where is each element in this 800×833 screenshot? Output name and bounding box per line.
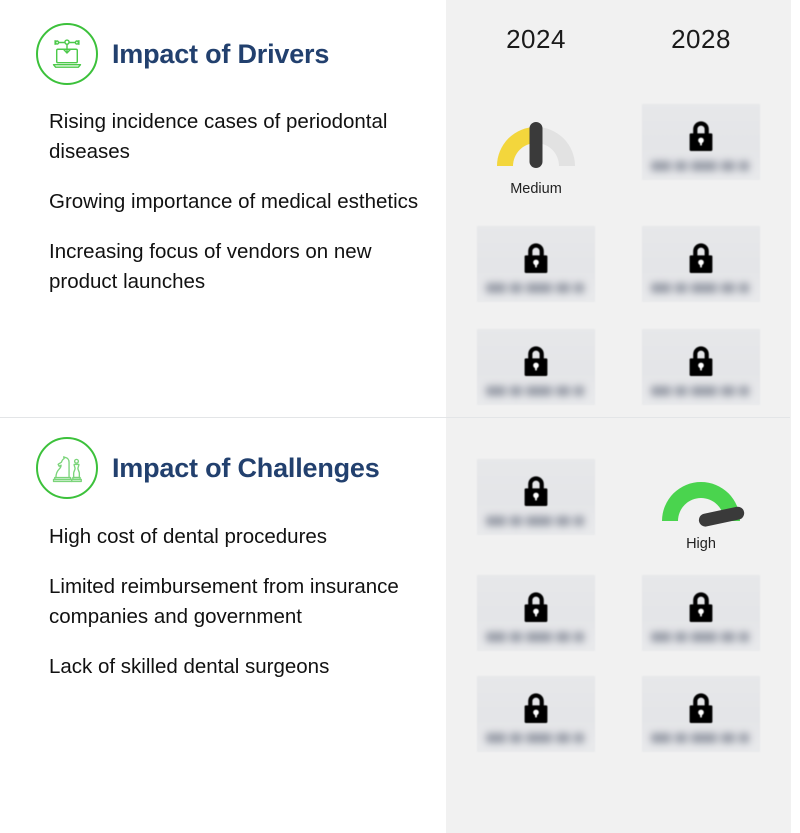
blurred-placeholder-text: [484, 630, 588, 644]
drivers-bullet-list: Rising incidence cases of periodontal di…: [49, 107, 421, 297]
impact-matrix-page: 2024 2028 Impact of Drivers Risi: [0, 0, 800, 833]
blurred-placeholder-text: [649, 731, 753, 745]
list-item: Growing importance of medical esthetics: [49, 187, 421, 217]
locked-cell-drivers-row2-2024[interactable]: [477, 226, 595, 302]
blurred-placeholder-text: [484, 281, 588, 295]
list-item: High cost of dental procedures: [49, 522, 421, 552]
challenges-section-header: Impact of Challenges: [36, 437, 380, 499]
list-item: Limited reimbursement from insurance com…: [49, 572, 421, 632]
drivers-left-column: Impact of Drivers Rising incidence cases…: [0, 0, 446, 417]
challenges-section-title: Impact of Challenges: [112, 453, 380, 484]
blurred-placeholder-text: [484, 514, 588, 528]
gauge-challenges-row1-2028: High: [642, 459, 760, 551]
locked-cell-drivers-row2-2028[interactable]: [642, 226, 760, 302]
column-header-2024: 2024: [476, 24, 596, 55]
blurred-placeholder-text: [649, 281, 753, 295]
padlock-icon: [684, 341, 718, 383]
locked-cell-challenges-row1-2024[interactable]: [477, 459, 595, 535]
gauge-label-medium: Medium: [477, 181, 595, 197]
laptop-download-drivers-icon: [36, 23, 98, 85]
challenges-left-column: Impact of Challenges High cost of dental…: [0, 418, 446, 833]
gauge-label-high: High: [642, 536, 760, 552]
padlock-icon: [519, 587, 553, 629]
padlock-icon: [684, 587, 718, 629]
padlock-icon: [684, 688, 718, 730]
blurred-placeholder-text: [649, 630, 753, 644]
blurred-placeholder-text: [649, 384, 753, 398]
locked-cell-challenges-row2-2024[interactable]: [477, 575, 595, 651]
list-item: Lack of skilled dental surgeons: [49, 652, 421, 682]
locked-cell-challenges-row2-2028[interactable]: [642, 575, 760, 651]
chess-pieces-challenges-icon: [36, 437, 98, 499]
challenges-bullet-list: High cost of dental procedures Limited r…: [49, 522, 421, 682]
padlock-icon: [684, 116, 718, 158]
gauge-drivers-row1-2024: Medium: [477, 104, 595, 196]
drivers-section-title: Impact of Drivers: [112, 39, 329, 70]
locked-cell-challenges-row3-2028[interactable]: [642, 676, 760, 752]
padlock-icon: [519, 688, 553, 730]
padlock-icon: [519, 471, 553, 513]
list-item: Increasing focus of vendors on new produ…: [49, 237, 421, 297]
blurred-placeholder-text: [649, 159, 753, 173]
locked-cell-drivers-row3-2028[interactable]: [642, 329, 760, 405]
locked-cell-drivers-row1-2028[interactable]: [642, 104, 760, 180]
locked-cell-drivers-row3-2024[interactable]: [477, 329, 595, 405]
blurred-placeholder-text: [484, 384, 588, 398]
locked-cell-challenges-row3-2024[interactable]: [477, 676, 595, 752]
list-item: Rising incidence cases of periodontal di…: [49, 107, 421, 167]
padlock-icon: [519, 238, 553, 280]
padlock-icon: [684, 238, 718, 280]
right-gutter: [791, 0, 800, 833]
drivers-section-header: Impact of Drivers: [36, 23, 329, 85]
column-header-2028: 2028: [641, 24, 761, 55]
blurred-placeholder-text: [484, 731, 588, 745]
gauge-medium-svg: [477, 104, 595, 174]
padlock-icon: [519, 341, 553, 383]
gauge-high-svg: [642, 459, 760, 529]
